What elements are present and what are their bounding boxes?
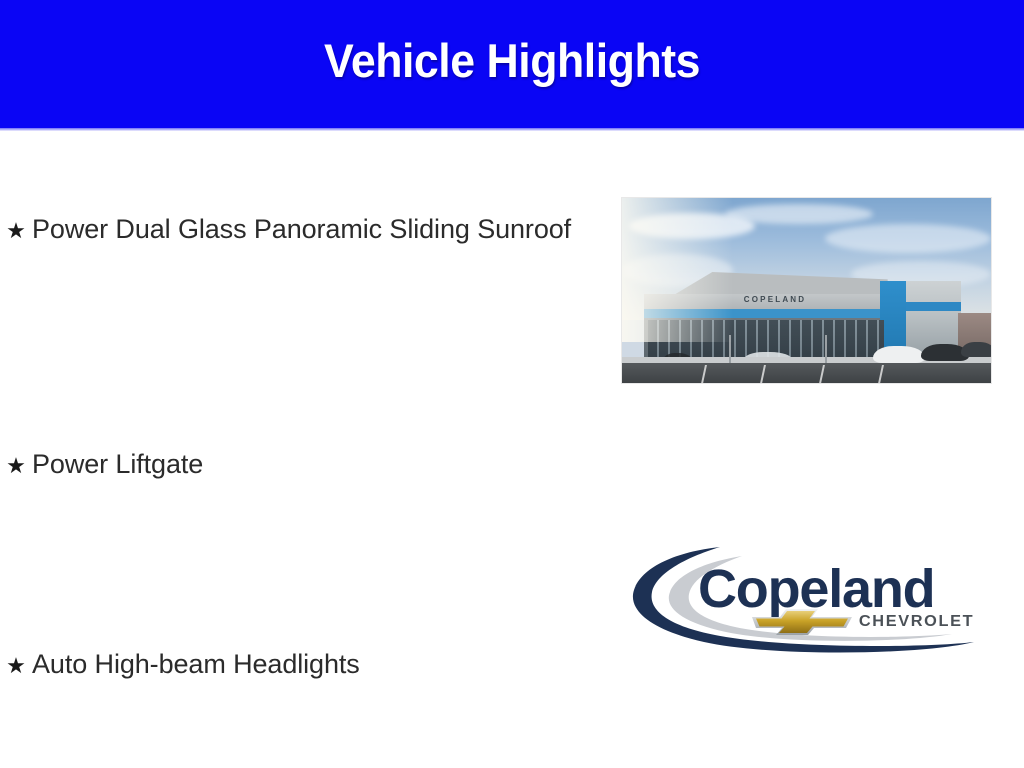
star-bullet-icon: ★ [0,447,32,484]
photo-signage-text: COPELAND [744,295,807,304]
list-item: ★ Power Dual Glass Panoramic Sliding Sun… [0,212,580,249]
list-item: ★ Auto High-beam Headlights [0,647,580,684]
photo-light-flare [622,198,733,342]
star-bullet-icon: ★ [0,647,32,684]
chevrolet-bowtie-icon [750,606,854,636]
page-title: Vehicle Highlights [26,33,999,89]
logo-subbrand-text: CHEVROLET [859,613,974,631]
photo-pavement [622,363,991,383]
copeland-chevrolet-logo: Copeland CHEVROLET [622,538,990,654]
list-item: ★ Power Liftgate [0,447,580,484]
photo-building-blue-band-secondary [906,302,961,311]
dealership-photo: COPELAND [622,198,991,383]
photo-cloud [725,204,873,224]
star-bullet-icon: ★ [0,212,32,249]
list-item-label: Power Dual Glass Panoramic Sliding Sunro… [32,212,580,247]
photo-car [961,342,991,357]
photo-car [873,346,925,363]
list-item-label: Auto High-beam Headlights [32,647,580,682]
list-item-label: Power Liftgate [32,447,580,482]
header-divider [0,128,1024,131]
